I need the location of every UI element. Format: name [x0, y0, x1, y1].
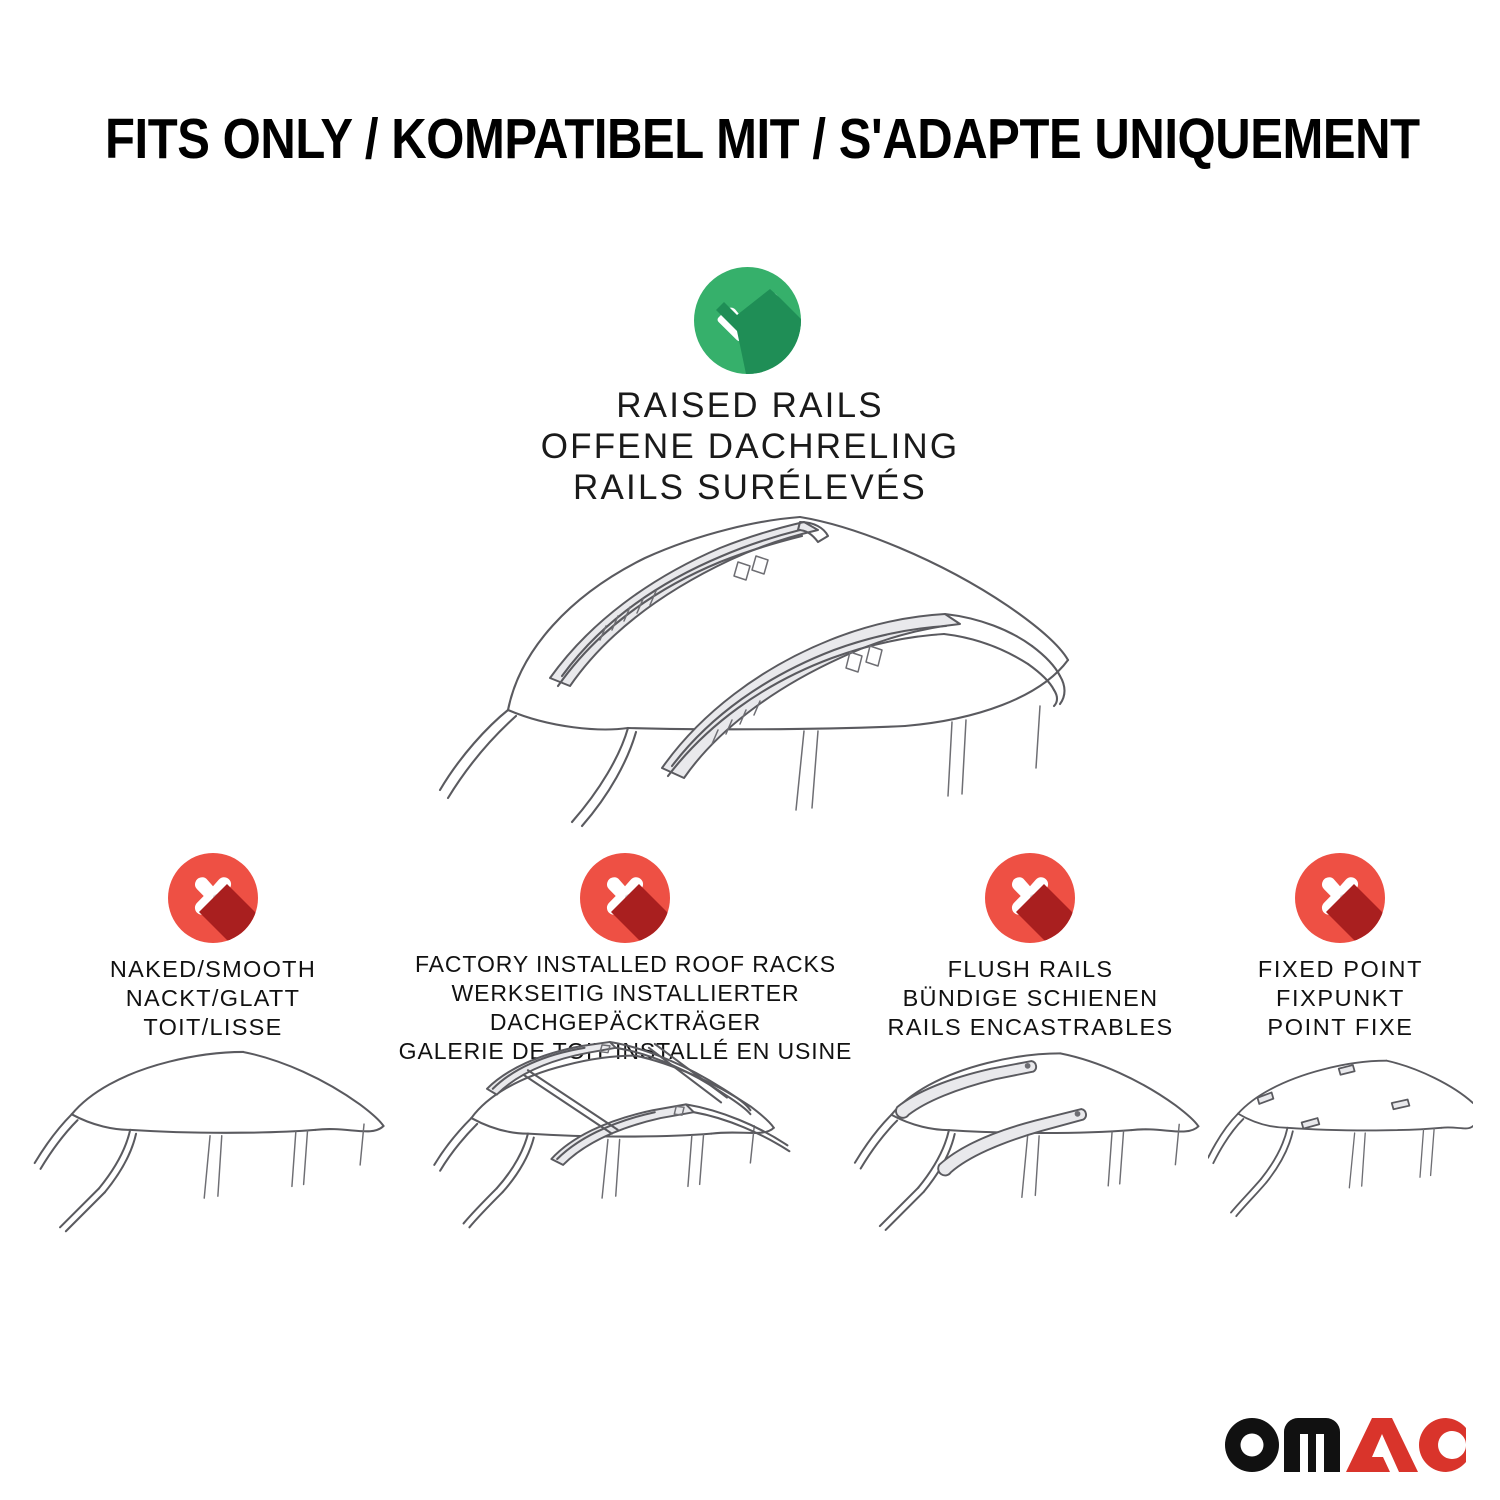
- compatible-label-de: OFFENE DACHRELING: [0, 426, 1500, 467]
- cross-circle-icon: [1295, 853, 1385, 943]
- fitment-infographic: FITS ONLY / KOMPATIBEL MIT / S'ADAPTE UN…: [0, 0, 1500, 1500]
- compatible-label-en: RAISED RAILS: [0, 385, 1500, 426]
- label-fr: TOIT/LISSE: [28, 1013, 398, 1042]
- fitment-column-flush-rails: FLUSH RAILS BÜNDIGE SCHIENEN RAILS ENCAS…: [853, 845, 1208, 1295]
- cross-icon-long-shadow: [1295, 853, 1385, 943]
- label-en: NAKED/SMOOTH: [28, 955, 398, 984]
- cross-circle-icon: [580, 853, 670, 943]
- label-en: FLUSH RAILS: [853, 955, 1208, 984]
- label-de: NACKT/GLATT: [28, 984, 398, 1013]
- fitment-column-fixed-point: FIXED POINT FIXPUNKT POINT FIXE: [1208, 845, 1473, 1295]
- cross-icon-long-shadow: [580, 853, 670, 943]
- label-group-fixed-point: FIXED POINT FIXPUNKT POINT FIXE: [1208, 955, 1473, 1042]
- car-roof-raised-rails-illustration: [400, 500, 1100, 850]
- fitment-column-naked-smooth: NAKED/SMOOTH NACKT/GLATT TOIT/LISSE: [28, 845, 398, 1295]
- label-group-flush-rails: FLUSH RAILS BÜNDIGE SCHIENEN RAILS ENCAS…: [853, 955, 1208, 1042]
- car-roof-naked-smooth-illustration: [28, 1050, 398, 1240]
- car-roof-flush-rails-illustration: [853, 1050, 1208, 1240]
- label-en: FIXED POINT: [1208, 955, 1473, 984]
- omac-logo: [1220, 1416, 1470, 1472]
- label-de-line-1: WERKSEITIG INSTALLIERTER: [398, 979, 853, 1008]
- label-group-naked-smooth: NAKED/SMOOTH NACKT/GLATT TOIT/LISSE: [28, 955, 398, 1042]
- fitment-column-factory-roof-racks: FACTORY INSTALLED ROOF RACKS WERKSEITIG …: [398, 845, 853, 1295]
- car-roof-factory-roof-racks-illustration: [398, 1040, 853, 1240]
- car-roof-fixed-point-illustration: [1208, 1050, 1473, 1240]
- check-icon-long-shadow: [694, 267, 801, 374]
- cross-icon-long-shadow: [985, 853, 1075, 943]
- label-de-line-2: DACHGEPÄCKTRÄGER: [398, 1008, 853, 1037]
- label-fr: POINT FIXE: [1208, 1013, 1473, 1042]
- label-de: BÜNDIGE SCHIENEN: [853, 984, 1208, 1013]
- page-title: FITS ONLY / KOMPATIBEL MIT / S'ADAPTE UN…: [105, 108, 1395, 170]
- cross-circle-icon: [168, 853, 258, 943]
- cross-icon-long-shadow: [168, 853, 258, 943]
- check-circle-icon: [694, 267, 801, 374]
- label-de: FIXPUNKT: [1208, 984, 1473, 1013]
- cross-circle-icon: [985, 853, 1075, 943]
- compatible-label-group: RAISED RAILS OFFENE DACHRELING RAILS SUR…: [0, 385, 1500, 508]
- label-fr: RAILS ENCASTRABLES: [853, 1013, 1208, 1042]
- label-en: FACTORY INSTALLED ROOF RACKS: [398, 950, 853, 979]
